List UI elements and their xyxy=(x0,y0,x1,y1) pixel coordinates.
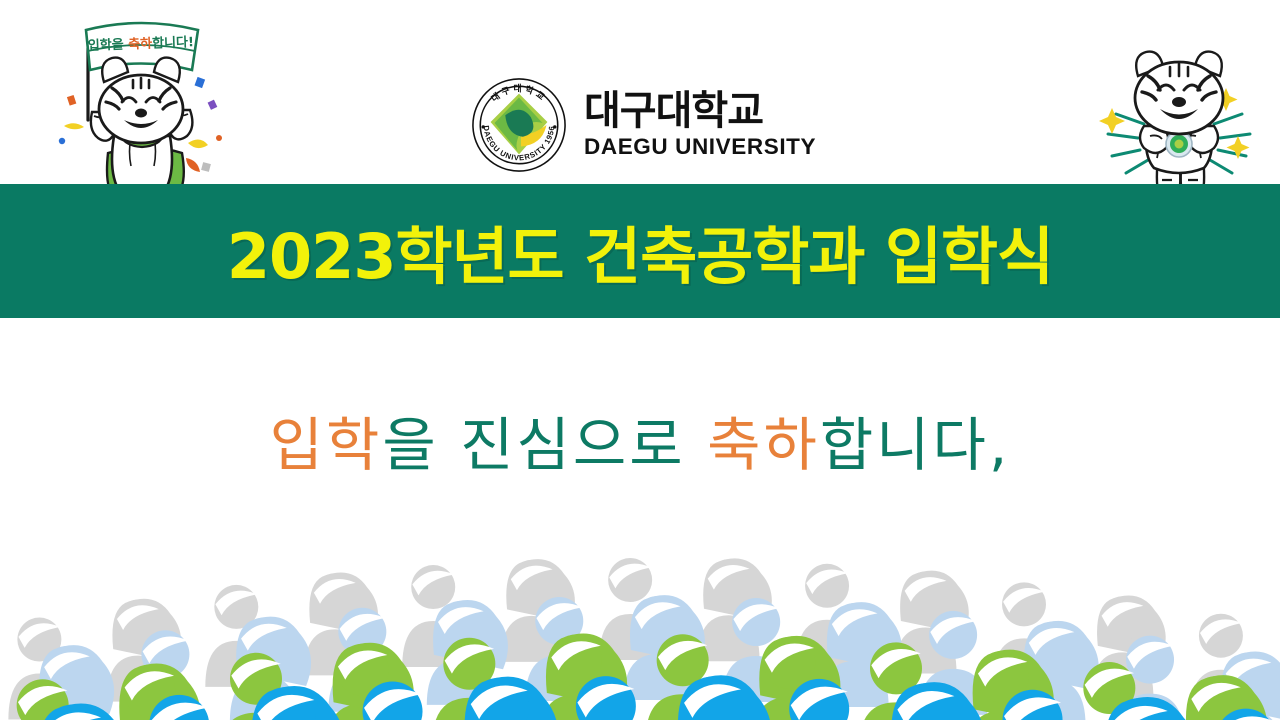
flag-text-part-3: 합니다! xyxy=(152,34,194,51)
congratulation-subtitle: 입학을 진심으로 축하합니다, xyxy=(0,398,1280,482)
university-emblem-icon: 대구대학교 DAEGU UNIVERSITY 1956 xyxy=(470,76,568,174)
page-title: 2023학년도 건축공학과 입학식 xyxy=(227,206,1053,296)
daegu-university-logo: 대구대학교 DAEGU UNIVERSITY 1956 대구대학교 DAEGU … xyxy=(470,72,820,178)
mascot-nose xyxy=(1172,97,1186,107)
mascot-left-tiger-with-flag: 입학을 축하합니다! xyxy=(46,8,236,208)
subtitle-segment-3: 축하 xyxy=(707,411,820,479)
flag-text-part-1: 입학을 xyxy=(88,37,124,54)
logo-name-korean: 대구대학교 xyxy=(584,91,816,131)
title-banner: 2023학년도 건축공학과 입학식 xyxy=(0,184,1280,318)
logo-name-english: DAEGU UNIVERSITY xyxy=(584,136,816,159)
mascot-right-tiger-with-medal xyxy=(1086,16,1272,202)
flag-text-part-2: 축하 xyxy=(123,36,152,53)
subtitle-segment-1: 입학 xyxy=(270,411,383,479)
subtitle-segment-4: 합니다, xyxy=(820,411,1011,479)
mascot-nose xyxy=(135,109,147,118)
subtitle-segment-2: 을 진심으로 xyxy=(382,411,707,479)
flag-banner: 입학을 축하합니다! xyxy=(86,23,198,70)
admission-ceremony-poster: 입학을 축하합니다! xyxy=(0,0,1280,720)
audience-crowd-illustration xyxy=(0,520,1280,720)
